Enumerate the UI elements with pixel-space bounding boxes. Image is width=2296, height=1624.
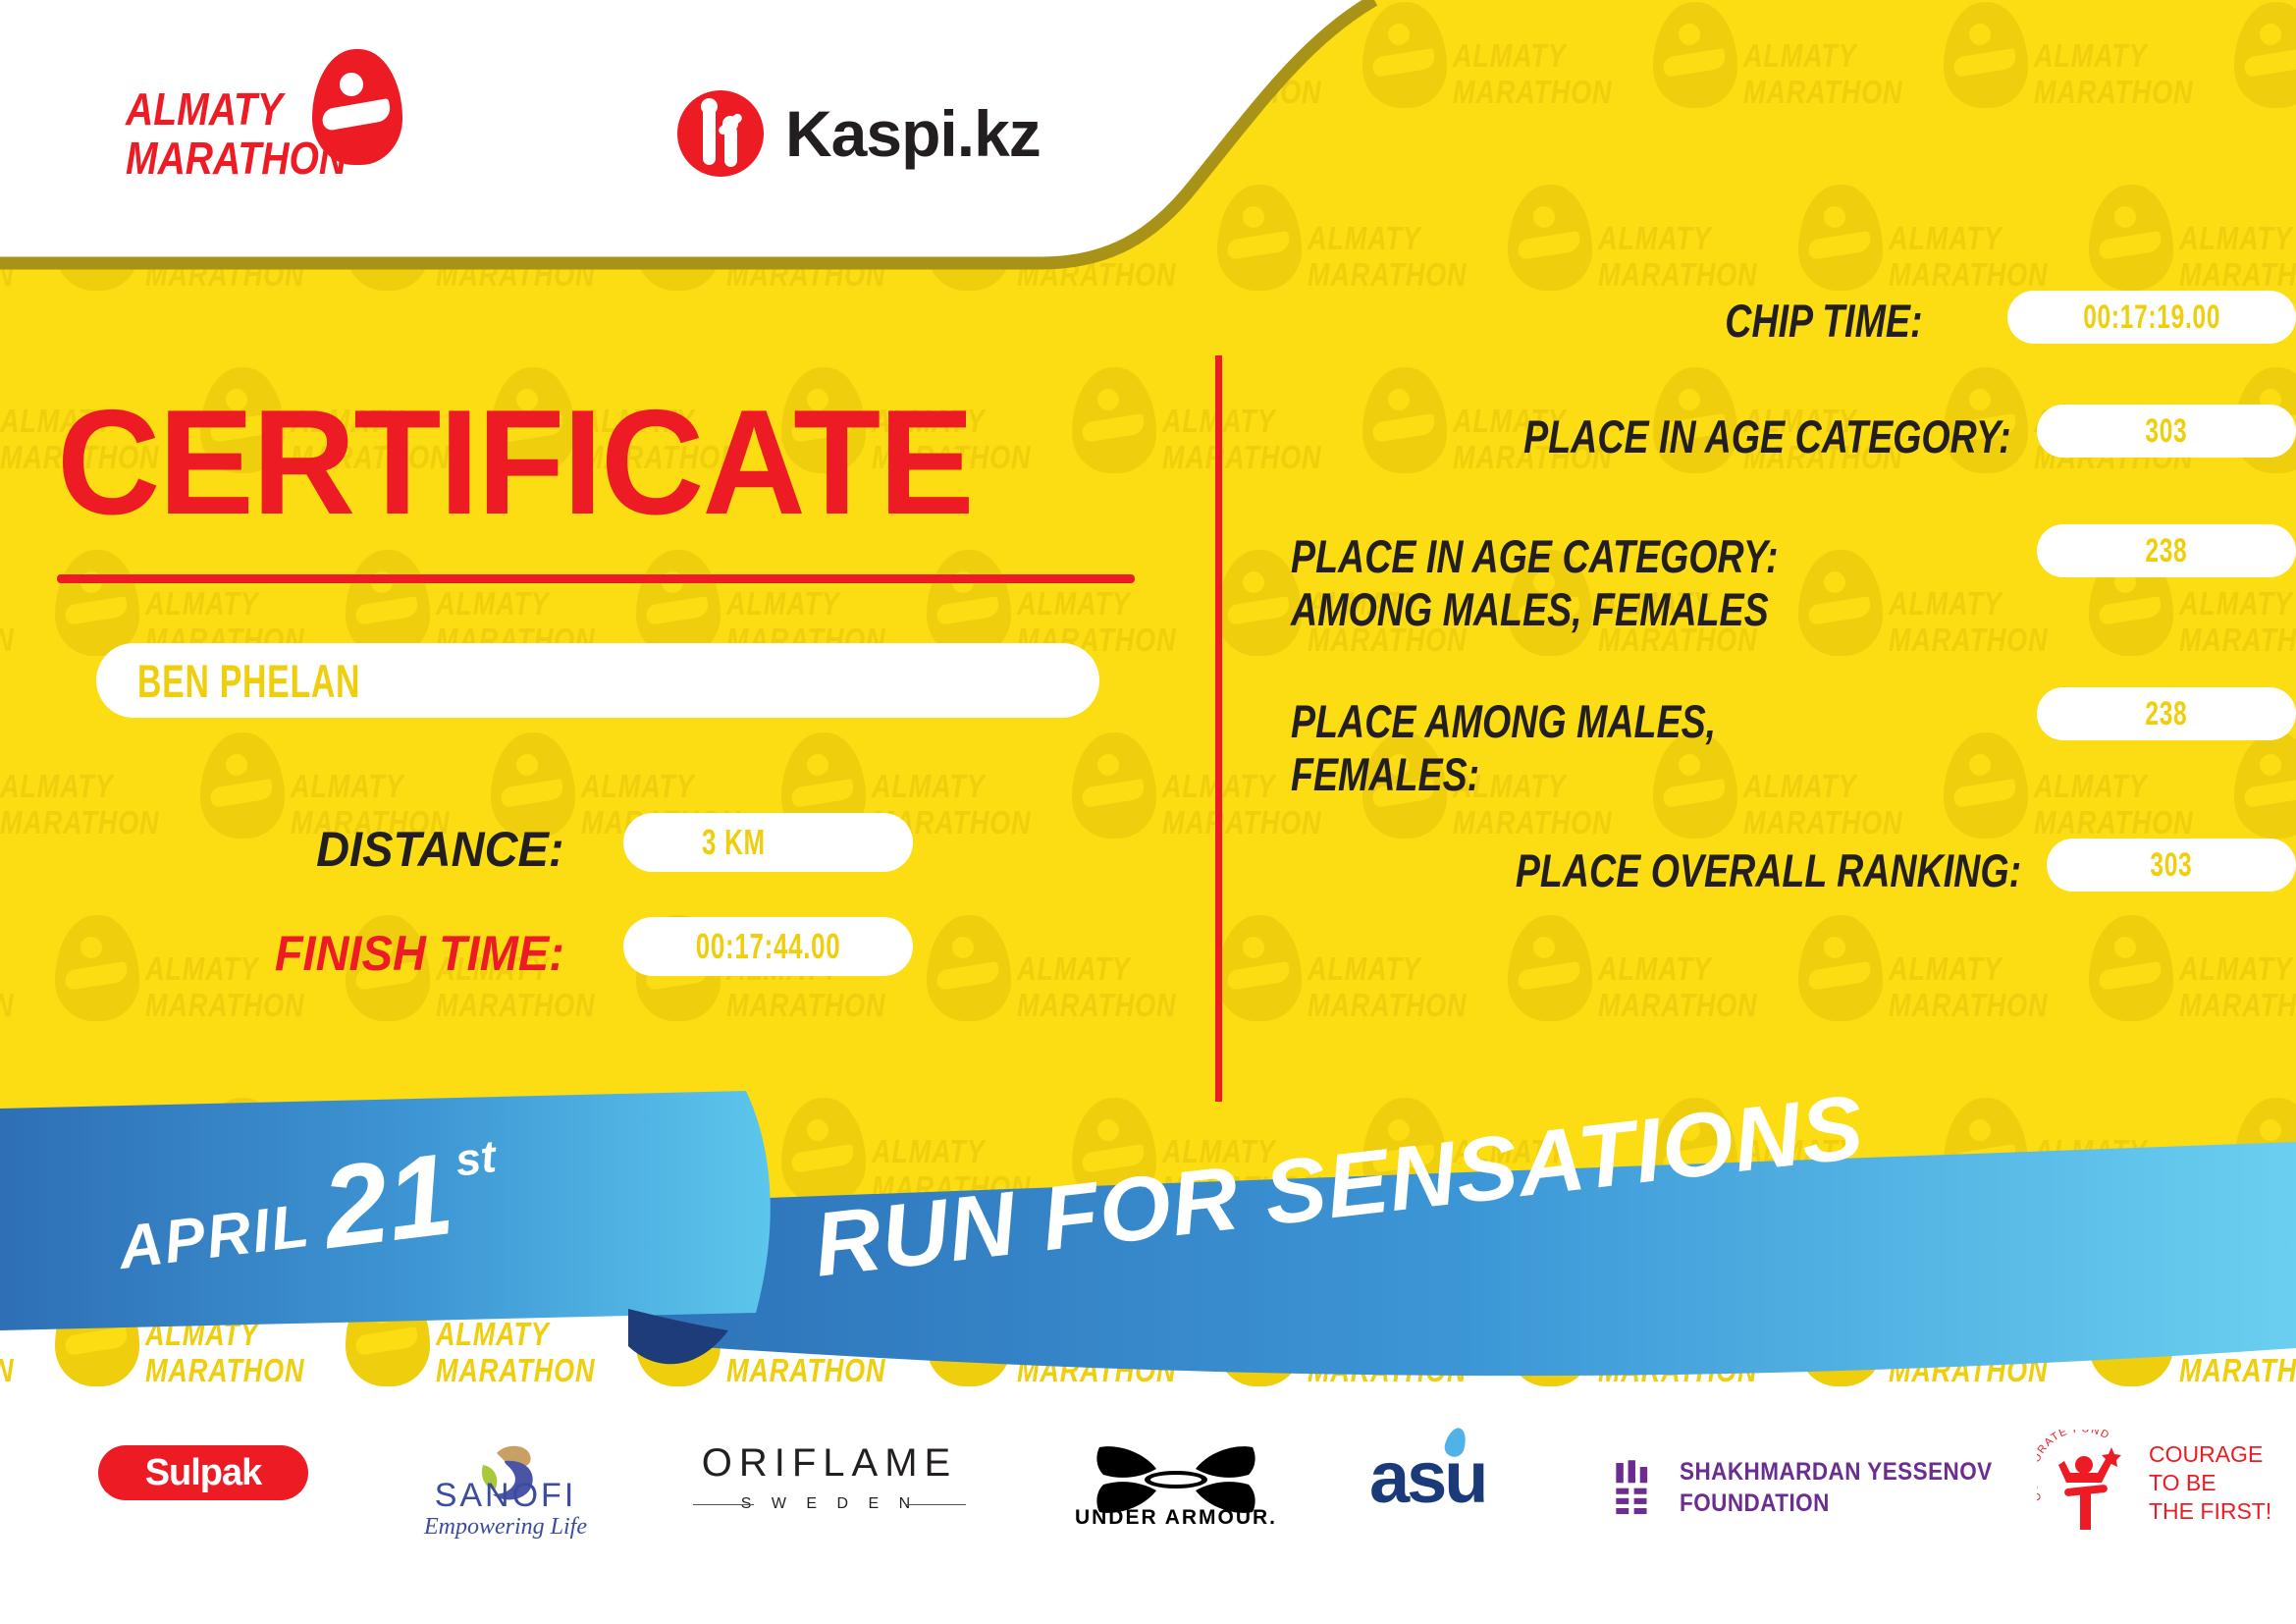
stat-label: CHIP TIME: [1726, 295, 1923, 348]
stat-label: PLACE IN AGE CATEGORY: [1523, 410, 2011, 463]
watermark-text: ALMATYMARATHON [1889, 220, 2048, 293]
stat-label-second-line: FEMALES: [1291, 748, 1479, 801]
watermark-text: ALMATYMARATHON [1598, 220, 1757, 293]
vertical-divider [1215, 355, 1222, 1102]
yessenov-wordmark: SHAKHMARDAN YESSENOV FOUNDATION [1680, 1456, 1993, 1519]
asu-wordmark: asu [1369, 1436, 1486, 1518]
cbf-line3: THE FIRST! [2149, 1498, 2271, 1524]
sponsor-corporate-fund: CORPORATE FUND COURAGE TO BE THE FIRST! [2037, 1424, 2282, 1542]
stat-value-field: 303 [2037, 405, 2296, 458]
watermark-runner-icon [1944, 2, 2028, 108]
almaty-marathon-logo: ALMATY MARATHON [126, 47, 450, 194]
sponsor-under-armour: UNDER ARMOUR. [1088, 1426, 1264, 1534]
sulpak-logo-icon: Sulpak [145, 1452, 262, 1494]
oriflame-sub: S W E D E N [687, 1495, 972, 1513]
watermark-runner-icon [2089, 185, 2173, 291]
kaspi-figures-icon [677, 90, 764, 177]
event-day: 21 [318, 1145, 457, 1258]
yessenov-line2: FOUNDATION [1680, 1489, 1830, 1517]
watermark-runner-icon [1798, 185, 1883, 291]
stat-value: 238 [2145, 532, 2187, 570]
certificate-page: ALMATYMARATHONALMATYMARATHONALMATYMARATH… [0, 0, 2296, 1624]
sponsor-sanofi: SANOFI Empowering Life [393, 1412, 618, 1540]
sanofi-tagline: Empowering Life [393, 1514, 618, 1541]
sanofi-wordmark: SANOFI [393, 1477, 618, 1515]
yessenov-foundation-logo-icon [1615, 1447, 1656, 1528]
watermark-tile: ALMATYMARATHON [1743, 0, 2034, 183]
participant-name-field: BEN PHELAN [96, 643, 1099, 718]
sponsor-oriflame: ORIFLAME S W E D E N [687, 1432, 972, 1522]
distance-value-field: 3 KM [623, 813, 913, 872]
watermark-runner-icon [1508, 185, 1592, 291]
stat-value-field: 00:17:19.00 [2007, 291, 2296, 344]
stat-value: 303 [2150, 846, 2192, 885]
distance-value: 3 KM [703, 822, 767, 863]
left-panel: CERTIFICATE BEN PHELAN DISTANCE: 3 KM FI… [0, 295, 1207, 1218]
sponsor-sulpak: Sulpak [98, 1445, 308, 1500]
oriflame-wordmark: ORIFLAME [687, 1441, 972, 1486]
finish-time-label: FINISH TIME: [275, 925, 564, 982]
cbf-line2: TO BE [2149, 1470, 2216, 1495]
sponsor-asu: asu [1369, 1428, 1556, 1526]
title-divider [57, 574, 1135, 583]
watermark-text: ALMATYMARATHON [1453, 37, 1612, 110]
corporate-fund-slogan: COURAGE TO BE THE FIRST! [2149, 1440, 2271, 1526]
page-title: CERTIFICATE [57, 388, 973, 537]
stat-label: PLACE IN AGE CATEGORY: [1291, 530, 1779, 583]
stat-value-field: 238 [2037, 524, 2296, 577]
event-day-suffix: st [453, 1129, 499, 1187]
watermark-text: ALMATYMARATHON [1743, 37, 1902, 110]
stat-label: PLACE AMONG MALES, [1291, 695, 1716, 748]
distance-label: DISTANCE: [317, 821, 564, 878]
organizer-line2: MARATHON [126, 133, 347, 184]
under-armour-wordmark: UNDER ARMOUR. [1068, 1506, 1284, 1530]
stat-value: 238 [2145, 695, 2187, 733]
finish-time-row: FINISH TIME: 00:17:44.00 [0, 917, 1207, 990]
watermark-text: ALMATYMARATHON [2179, 220, 2296, 293]
organizer-line1: ALMATY [126, 83, 283, 135]
kaspi-wordmark: Kaspi.kz [785, 96, 1041, 171]
yessenov-line1: SHAKHMARDAN YESSENOV [1680, 1458, 1993, 1486]
watermark-text: ALMATYMARATHON [2034, 37, 2193, 110]
stats-panel: CHIP TIME: 00:17:19.00 PLACE IN AGE CATE… [1222, 295, 2296, 1218]
watermark-tile: ALMATYMARATHON [1453, 0, 1743, 183]
kaspi-logo: Kaspi.kz [677, 90, 1041, 177]
sponsor-bar: Sulpak SANOFI Empowering Life ORIFLAME S… [0, 1394, 2296, 1624]
watermark-tile: ALMATYMARATHON [2034, 0, 2296, 183]
stat-value: 00:17:19.00 [2083, 298, 2220, 337]
participant-name-value: BEN PHELAN [137, 654, 360, 708]
stat-label-second-line: AMONG MALES, FEMALES [1291, 583, 1769, 636]
watermark-runner-icon [1653, 2, 1737, 108]
cbf-line1: COURAGE [2149, 1441, 2263, 1467]
distance-row: DISTANCE: 3 KM [0, 813, 1207, 886]
almaty-marathon-wordmark: ALMATY MARATHON [126, 84, 347, 183]
header-logos: ALMATY MARATHON Kaspi.kz [0, 0, 1178, 295]
sponsor-yessenov-foundation: SHAKHMARDAN YESSENOV FOUNDATION [1615, 1434, 2027, 1542]
watermark-runner-icon [2234, 2, 2296, 108]
asu-logo-icon: asu [1369, 1435, 1486, 1519]
stat-value: 303 [2145, 412, 2187, 451]
stat-value-field: 238 [2037, 687, 2296, 740]
event-ribbon: APRIL 21 st RUN FOR SENSATIONS [0, 1085, 2296, 1389]
finish-time-value-field: 00:17:44.00 [623, 917, 913, 976]
stat-value-field: 303 [2047, 839, 2296, 892]
finish-time-value: 00:17:44.00 [696, 926, 841, 967]
corporate-fund-logo-icon: CORPORATE FUND [2037, 1430, 2139, 1536]
stat-label: PLACE OVERALL RANKING: [1516, 844, 2021, 897]
